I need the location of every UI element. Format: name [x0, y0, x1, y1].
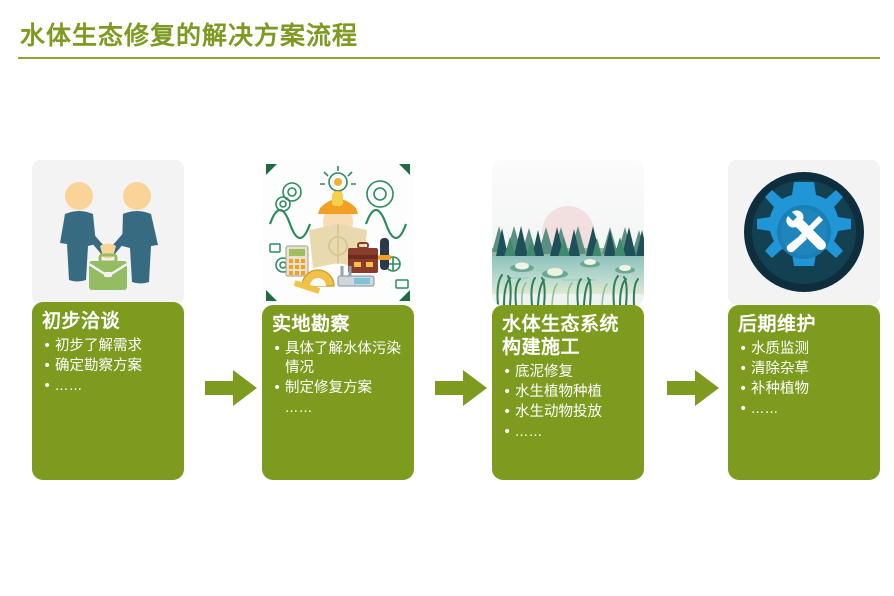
step-3-bullet-list: 底泥修复 水生植物种植 水生动物投放 …… — [502, 363, 634, 442]
step-3-heading: 水体生态系统构建施工 — [502, 313, 634, 359]
list-item: 清除杂草 — [738, 360, 870, 379]
list-item: …… — [502, 423, 634, 442]
page-header: 水体生态修复的解决方案流程 — [0, 0, 894, 70]
step-1-body: 初步洽谈 初步了解需求 确定勘察方案 …… — [32, 302, 184, 480]
arrow-step2-to-step3 — [433, 368, 489, 408]
gear-tools-maintenance-icon — [728, 160, 880, 305]
list-item: 水生动物投放 — [502, 403, 634, 422]
process-flow-diagram: 初步洽谈 初步了解需求 确定勘察方案 …… — [0, 150, 894, 490]
lake-forest-wetland-illustration — [492, 160, 644, 305]
list-item: …… — [738, 400, 870, 419]
flow-step-card-2[interactable]: 实地勘察 具体了解水体污染情况 制定修复方案 …… — [262, 150, 414, 480]
step-1-image-panel — [32, 160, 184, 305]
step-4-bullet-list: 水质监测 清除杂草 补种植物 …… — [738, 340, 870, 419]
step-4-body: 后期维护 水质监测 清除杂草 补种植物 …… — [728, 305, 880, 480]
list-item: 制定修复方案 — [272, 379, 404, 398]
step-2-image-panel — [262, 160, 414, 305]
engineer-blueprint-survey-illustration — [262, 160, 414, 305]
right-arrow-icon — [433, 368, 489, 408]
list-item: 具体了解水体污染情况 — [272, 340, 404, 378]
list-item: 初步了解需求 — [42, 337, 174, 356]
right-arrow-icon — [203, 368, 259, 408]
page-title: 水体生态修复的解决方案流程 — [20, 16, 358, 52]
flow-step-card-3[interactable]: 水体生态系统构建施工 底泥修复 水生植物种植 水生动物投放 …… — [492, 150, 644, 480]
list-item: 确定勘察方案 — [42, 357, 174, 376]
right-arrow-icon — [665, 368, 721, 408]
arrow-step3-to-step4 — [665, 368, 721, 408]
step-3-image-panel — [492, 160, 644, 305]
title-divider — [18, 57, 880, 59]
step-2-body: 实地勘察 具体了解水体污染情况 制定修复方案 …… — [262, 305, 414, 480]
step-4-image-panel — [728, 160, 880, 305]
step-2-heading: 实地勘察 — [272, 313, 404, 336]
step-1-heading: 初步洽谈 — [42, 310, 174, 333]
list-item: …… — [272, 399, 404, 418]
list-item: 水生植物种植 — [502, 383, 634, 402]
handshake-briefcase-illustration — [32, 160, 184, 305]
step-4-heading: 后期维护 — [738, 313, 870, 336]
step-1-bullet-list: 初步了解需求 确定勘察方案 …… — [42, 337, 174, 396]
list-item: 水质监测 — [738, 340, 870, 359]
arrow-step1-to-step2 — [203, 368, 259, 408]
flow-step-card-4[interactable]: 后期维护 水质监测 清除杂草 补种植物 …… — [728, 150, 880, 480]
list-item: …… — [42, 377, 174, 396]
step-3-body: 水体生态系统构建施工 底泥修复 水生植物种植 水生动物投放 …… — [492, 305, 644, 480]
list-item: 补种植物 — [738, 380, 870, 399]
flow-step-card-1[interactable]: 初步洽谈 初步了解需求 确定勘察方案 …… — [32, 150, 184, 480]
list-item: 底泥修复 — [502, 363, 634, 382]
step-2-bullet-list: 具体了解水体污染情况 制定修复方案 …… — [272, 340, 404, 418]
